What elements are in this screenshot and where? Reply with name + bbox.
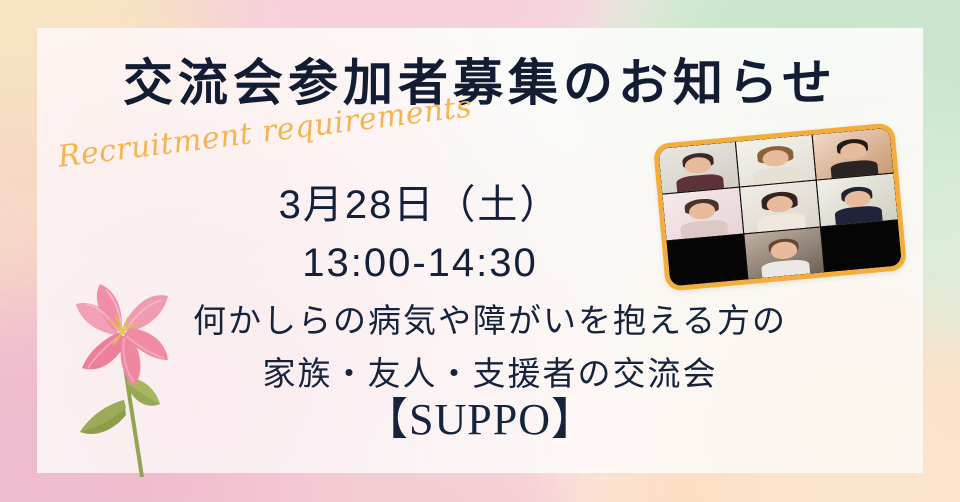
page-title: 交流会参加者募集のお知らせ xyxy=(0,58,960,108)
video-tile xyxy=(740,181,820,233)
video-tile-muted xyxy=(821,220,901,272)
video-tile xyxy=(658,142,738,194)
event-description: 何かしらの病気や障がいを抱える方の 家族・友人・支援者の交流会 xyxy=(60,294,920,401)
video-tile xyxy=(813,128,893,180)
video-call-grid-photo xyxy=(653,122,907,291)
event-date: 3月28日（土） xyxy=(120,176,720,234)
brand-name: 【SUPPO】 xyxy=(0,396,960,444)
video-tile xyxy=(817,174,897,226)
video-tile xyxy=(744,227,824,279)
video-grid xyxy=(658,128,902,286)
video-tile xyxy=(736,135,816,187)
event-time: 13:00-14:30 xyxy=(120,234,720,292)
video-tile-muted xyxy=(667,234,747,286)
description-line-1: 何かしらの病気や障がいを抱える方の xyxy=(60,294,920,347)
event-datetime: 3月28日（土） 13:00-14:30 xyxy=(120,176,720,292)
description-line-2: 家族・友人・支援者の交流会 xyxy=(60,347,920,400)
poster-canvas: 交流会参加者募集のお知らせ Recruitment requirements 3… xyxy=(0,0,960,502)
video-tile xyxy=(662,188,742,240)
